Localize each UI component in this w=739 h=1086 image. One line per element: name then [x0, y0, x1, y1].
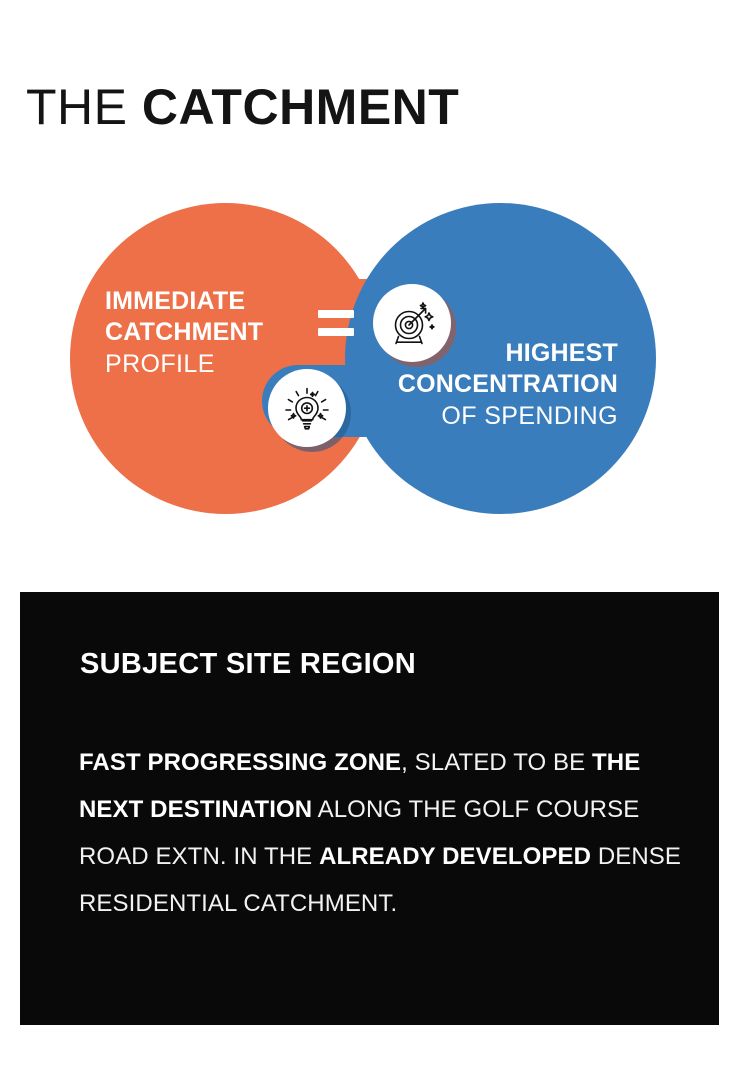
lightbulb-idea-icon — [282, 383, 332, 433]
panel-body-text: FAST PROGRESSING ZONE, SLATED TO BE THE … — [79, 739, 689, 927]
equals-bar-top — [318, 310, 354, 318]
lightbulb-icon-badge — [268, 369, 346, 447]
orange-line-2: CATCHMENT — [105, 317, 335, 348]
body-segment-2: , SLATED TO BE — [401, 749, 592, 776]
page-title-bold: CATCHMENT — [142, 79, 459, 135]
orange-line-1: IMMEDIATE — [105, 286, 335, 317]
immediate-catchment-label: IMMEDIATE CATCHMENT PROFILE — [105, 286, 335, 381]
body-segment-1: FAST PROGRESSING ZONE — [79, 749, 401, 776]
target-icon-badge — [373, 284, 451, 362]
blue-line-2: CONCENTRATION — [380, 369, 618, 400]
equals-icon — [318, 308, 354, 338]
page-title-light: THE — [26, 79, 142, 135]
page-title: THE CATCHMENT — [26, 79, 459, 135]
blue-line-3: OF SPENDING — [380, 400, 618, 433]
equals-bar-bottom — [318, 328, 354, 336]
catchment-slide: THE CATCHMENT IMMEDIATE CATCHMENT PROFIL… — [0, 0, 739, 1086]
panel-heading: SUBJECT SITE REGION — [80, 647, 416, 681]
target-arrow-icon — [387, 298, 437, 348]
body-segment-5: ALREADY DEVELOPED — [319, 843, 591, 870]
subject-site-region-panel: SUBJECT SITE REGION FAST PROGRESSING ZON… — [20, 592, 719, 1025]
